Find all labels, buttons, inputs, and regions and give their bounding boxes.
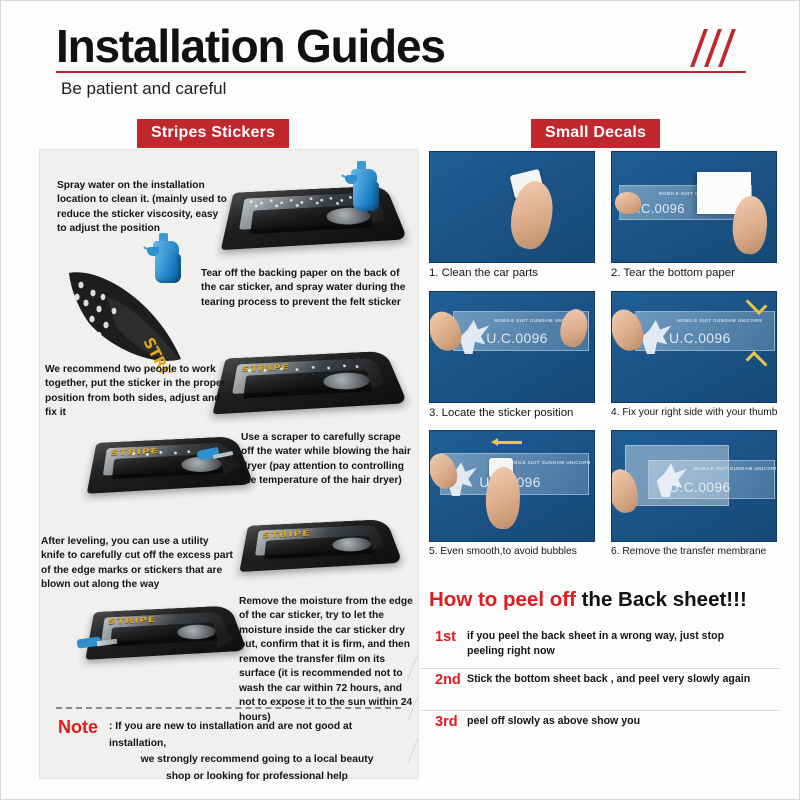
peel-off-list-item: 1st if you peel the back sheet in a wron… (429, 626, 779, 670)
decal-photo-6: MOBILE SUIT GUNDAM UNICORN U.C.0096 (611, 430, 777, 542)
peel-off-list: 1st if you peel the back sheet in a wron… (429, 626, 779, 754)
decal-subtext-5: MOBILE SUIT GUNDAM UNICORN (506, 460, 591, 465)
decal-artwork-4: MOBILE SUIT GUNDAM UNICORN U.C.0096 (635, 311, 775, 350)
windshield-illustration-5: STRIPE (245, 513, 395, 573)
peel-off-section: How to peel off the Back sheet!!! 1st if… (429, 589, 779, 753)
peel-off-ordinal-3: 3rd (429, 714, 467, 730)
decal-photo-1 (429, 151, 595, 263)
decal-step-cell-1: 1. Clean the car parts (429, 151, 595, 287)
decal-caption-4: 4. Fix your right side with your thumb (611, 403, 777, 425)
direction-arrow-icon-5 (496, 441, 522, 444)
note-divider (56, 707, 401, 709)
note-body: : If you are new to installation and are… (109, 719, 405, 786)
decal-photo-5: MOBILE SUIT GUNDAM UNICORN U.C.0096 (429, 430, 595, 542)
peel-off-list-item: 3rd peel off slowly as above show you (429, 711, 779, 753)
decal-caption-3: 3. Locate the sticker position (429, 403, 595, 427)
peel-off-text-3: peel off slowly as above show you (467, 714, 640, 730)
note-line-3: shop or looking for professional help (109, 769, 405, 786)
decal-photo-3: MOBILE SUIT GUNDAM UNICORN U.C.0096 (429, 291, 595, 403)
section-tag-decals: Small Decals (531, 119, 660, 148)
decal-caption-5: 5. Even smooth,to avoid bubbles (429, 542, 595, 564)
decal-photo-2: MOBILE SUIT GUNDAM UNICORN U.C.0096 (611, 151, 777, 263)
hand-icon-2-left (615, 192, 641, 214)
decal-step-cell-5: MOBILE SUIT GUNDAM UNICORN U.C.0096 5. E… (429, 430, 595, 564)
decal-caption-6: 6. Remove the transfer membrane (611, 542, 777, 564)
page-subtitle: Be patient and careful (61, 79, 226, 99)
small-decals-grid: 1. Clean the car parts MOBILE SUIT GUNDA… (429, 151, 777, 565)
step-text-5: After leveling, you can use a utility kn… (41, 535, 233, 593)
transfer-membrane-6 (625, 445, 729, 506)
decal-maintext-3: U.C.0096 (486, 330, 548, 346)
step-text-6: Remove the moisture from the edge of the… (239, 595, 417, 725)
peel-off-text-2: Stick the bottom sheet back , and peel v… (467, 672, 750, 688)
page-title: Installation Guides (56, 19, 445, 73)
peel-off-title-red: How to peel off (429, 588, 576, 611)
note-label: Note (58, 717, 98, 738)
step-text-2: Tear off the backing paper on the back o… (201, 267, 406, 310)
step-text-1: Spray water on the installation location… (57, 179, 227, 237)
note-line-1: : If you are new to installation and are… (109, 721, 352, 749)
note-line-2: we strongly recommend going to a local b… (109, 752, 405, 769)
decal-subtext-4: MOBILE SUIT GUNDAM UNICORN (677, 318, 762, 323)
peel-off-ordinal-2: 2nd (429, 672, 467, 688)
decal-photo-4: MOBILE SUIT GUNDAM UNICORN U.C.0096 (611, 291, 777, 403)
decal-maintext-4: U.C.0096 (669, 330, 731, 346)
utility-knife-icon (77, 635, 117, 651)
spray-bottle-icon-1 (339, 161, 385, 213)
unicorn-logo-icon-3 (459, 320, 489, 354)
decal-step-cell-2: MOBILE SUIT GUNDAM UNICORN U.C.0096 2. T… (611, 151, 777, 287)
diagonal-stripes-icon (693, 29, 753, 67)
scraper-tool-icon (197, 445, 233, 465)
peel-off-ordinal-1: 1st (429, 629, 467, 645)
spray-bottle-icon-2 (141, 233, 187, 285)
page-header: Installation Guides Be patient and caref… (1, 1, 800, 111)
windshield-illustration-3: STRIPE (221, 343, 397, 415)
decal-step-cell-3: MOBILE SUIT GUNDAM UNICORN U.C.0096 3. L… (429, 291, 595, 427)
peel-off-text-1: if you peel the back sheet in a wrong wa… (467, 629, 757, 661)
peel-off-title-black: the Back sheet!!! (582, 588, 747, 611)
unicorn-logo-icon-6 (657, 463, 687, 497)
decal-step-cell-6: MOBILE SUIT GUNDAM UNICORN U.C.0096 6. R… (611, 430, 777, 564)
installation-guide-page: Way Installation Guides Be patient and c… (0, 0, 800, 800)
section-tag-stripes: Stripes Stickers (137, 119, 289, 148)
pointer-arrow-icon-6 (217, 627, 235, 649)
chevron-up-icon-4 (746, 351, 768, 373)
step-text-3: We recommend two people to work together… (45, 363, 227, 421)
header-divider-rule (56, 71, 746, 73)
peel-off-title: How to peel off the Back sheet!!! (429, 589, 779, 612)
decal-caption-2: 2. Tear the bottom paper (611, 263, 777, 287)
decal-caption-1: 1. Clean the car parts (429, 263, 595, 287)
unicorn-logo-icon-4 (641, 320, 671, 354)
step-text-4: Use a scraper to carefully scrape off th… (241, 431, 413, 489)
peel-off-list-item: 2nd Stick the bottom sheet back , and pe… (429, 669, 779, 711)
decal-step-cell-4: MOBILE SUIT GUNDAM UNICORN U.C.0096 4. F… (611, 291, 777, 427)
